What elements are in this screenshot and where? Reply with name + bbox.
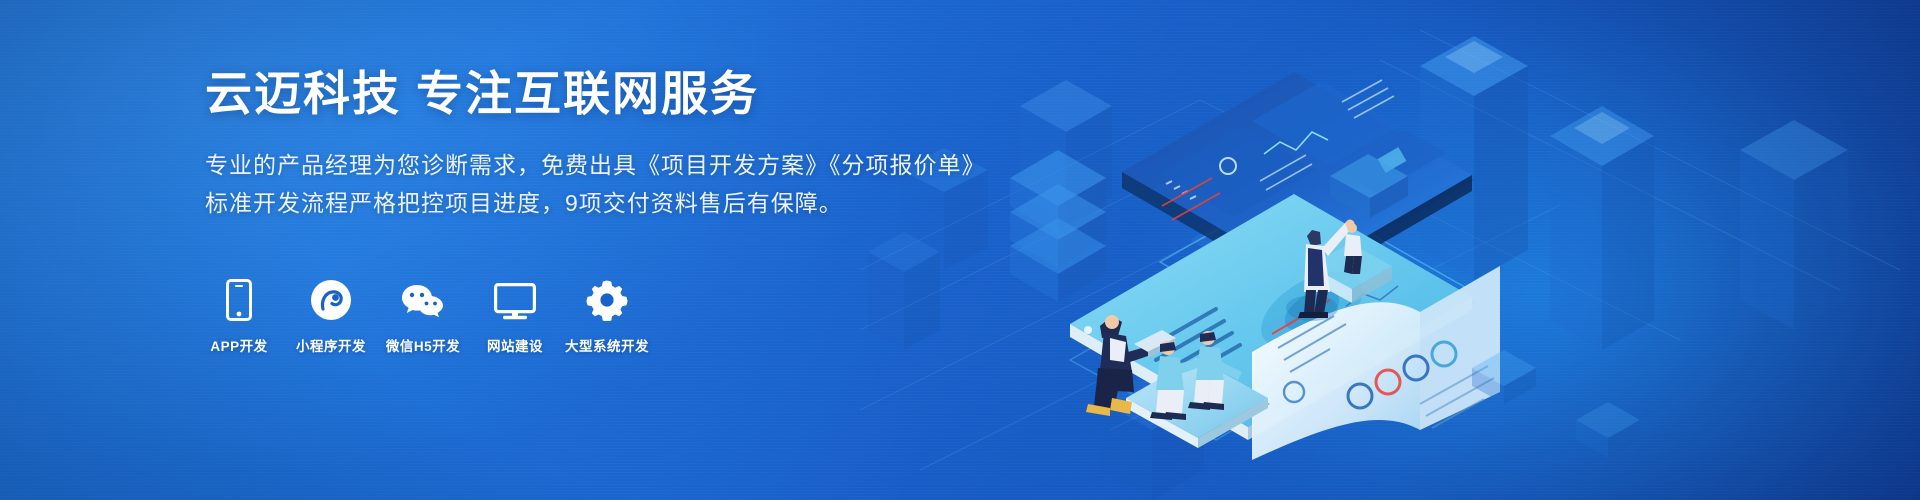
service-label: 微信H5开发: [386, 335, 460, 355]
isometric-tech-illustration: [860, 0, 1920, 500]
service-list: APP开发 小程序开发: [200, 275, 660, 355]
wechat-icon: [400, 275, 446, 321]
banner-content: 云迈科技 专注互联网服务 专业的产品经理为您诊断需求，免费出具《项目开发方案》《…: [205, 66, 925, 222]
floating-tiles: [1472, 350, 1640, 458]
service-label: 大型系统开发: [565, 335, 649, 355]
mini-program-icon: [310, 275, 352, 321]
service-label: 小程序开发: [296, 335, 366, 355]
subtitle: 专业的产品经理为您诊断需求，免费出具《项目开发方案》《分项报价单》 标准开发流程…: [205, 147, 925, 222]
service-item-miniprogram[interactable]: 小程序开发: [292, 275, 370, 355]
service-label: APP开发: [210, 335, 267, 355]
service-item-large-system[interactable]: 大型系统开发: [568, 275, 646, 355]
monitor-icon: [494, 275, 536, 321]
mobile-phone-icon: [226, 275, 252, 321]
headline: 云迈科技 专注互联网服务: [205, 66, 925, 121]
service-item-wechat-h5[interactable]: 微信H5开发: [384, 275, 462, 355]
server-stack: [1010, 150, 1106, 302]
promo-banner: 云迈科技 专注互联网服务 专业的产品经理为您诊断需求，免费出具《项目开发方案》《…: [0, 0, 1920, 500]
service-item-app[interactable]: APP开发: [200, 275, 278, 355]
subtitle-line-2: 标准开发流程严格把控项目进度，9项交付资料售后有保障。: [205, 185, 925, 222]
gear-icon: [586, 275, 628, 321]
service-item-website[interactable]: 网站建设: [476, 275, 554, 355]
service-label: 网站建设: [487, 335, 543, 355]
subtitle-line-1: 专业的产品经理为您诊断需求，免费出具《项目开发方案》《分项报价单》: [205, 147, 925, 184]
